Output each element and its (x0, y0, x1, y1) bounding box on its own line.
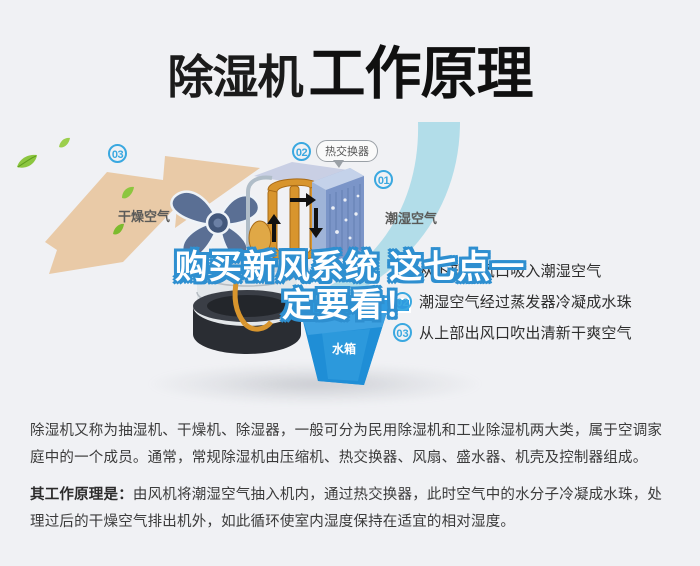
paragraph-2: 其工作原理是：由风机将潮湿空气抽入机内，通过热交换器，此时空气中的水分子冷凝成水… (30, 482, 675, 536)
legend-badge-03: 03 (393, 323, 412, 342)
legend-item: 01 从下部进风口吸入潮湿空气 (393, 255, 693, 286)
leaf-icon (16, 154, 38, 175)
leaf-icon (112, 223, 125, 241)
callout-label-moist-air: 潮湿空气 (385, 208, 437, 227)
page-title-part2: 工作原理 (309, 42, 533, 106)
page-title-part1: 除湿机 (168, 51, 303, 103)
body-copy: 除湿机又称为抽湿机、干燥机、除湿器，一般可分为民用除湿机和工业除湿机两大类，属于… (30, 418, 675, 546)
water-tank-label: 水箱 (332, 340, 356, 357)
leaf-icon (58, 136, 71, 154)
infographic-page: 除湿机工作原理 (0, 0, 700, 566)
legend-text-02: 潮湿空气经过蒸发器冷凝成水珠 (419, 291, 632, 312)
callout-badge-03: 03 (108, 144, 127, 163)
legend-text-01: 从下部进风口吸入潮湿空气 (419, 260, 601, 281)
legend-item: 03 从上部出风口吹出清新干爽空气 (393, 317, 693, 348)
legend-badge-01: 01 (393, 261, 412, 280)
legend-item: 02 潮湿空气经过蒸发器冷凝成水珠 (393, 286, 693, 317)
page-title: 除湿机工作原理 (0, 28, 700, 110)
leaf-icon (120, 186, 135, 205)
legend-text-03: 从上部出风口吹出清新干爽空气 (419, 322, 632, 343)
paragraph-2-lead: 其工作原理是： (30, 487, 133, 503)
callout-label-dry-air: 干燥空气 (118, 206, 170, 225)
legend-list: 01 从下部进风口吸入潮湿空气 02 潮湿空气经过蒸发器冷凝成水珠 03 从上部… (393, 255, 693, 348)
callout-badge-02: 02 (292, 142, 311, 161)
callout-badge-01: 01 (374, 170, 393, 189)
callout-bubble-heat-exchanger: 热交换器 (316, 140, 378, 162)
paragraph-1: 除湿机又称为抽湿机、干燥机、除湿器，一般可分为民用除湿机和工业除湿机两大类，属于… (30, 418, 675, 472)
legend-badge-02: 02 (393, 292, 412, 311)
